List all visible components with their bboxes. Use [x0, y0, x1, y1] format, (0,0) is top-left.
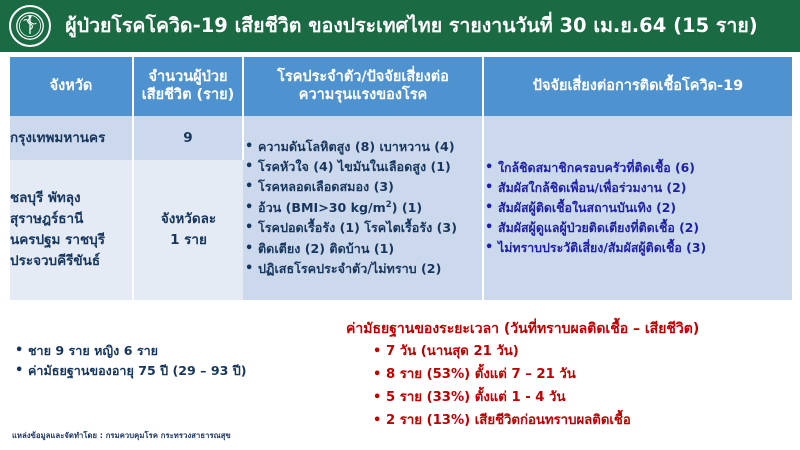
- summary-duration-list: 7 วัน (นานสุด 21 วัน) 8 ราย (53%) ตั้งแต…: [372, 341, 796, 433]
- superscript-two: 2: [386, 200, 392, 210]
- table-row: กรุงเทพมหานคร 9 ความดันโลหิตสูง (8) เบาห…: [10, 116, 792, 160]
- list-item: 8 ราย (53%) ตั้งแต่ 7 – 21 วัน: [372, 364, 796, 387]
- underlying-conditions-list: ความดันโลหิตสูง (8) เบาหวาน (4) โรคหัวใจ…: [244, 137, 482, 280]
- header-bar: ผู้ป่วยโรคโควิด-19 เสียชีวิต ของประเทศไท…: [0, 0, 800, 52]
- summary-duration-title: ค่ามัธยฐานของระยะเวลา (วันที่ทราบผลติดเช…: [346, 320, 796, 338]
- list-item: โรคหัวใจ (4) ไขมันในเลือดสูง (1): [244, 157, 482, 177]
- column-header-risk: ปัจจัยเสี่ยงต่อการติดเชื้อโควิด-19: [483, 57, 792, 116]
- list-item: ค่ามัธยฐานของอายุ 75 ปี (29 – 93 ปี): [14, 361, 344, 381]
- province-line: นครปฐม ราชบุรี: [10, 230, 132, 251]
- column-header-underlying-line2: ความรุนแรงของโรค: [299, 87, 427, 103]
- list-item: 5 ราย (33%) ตั้งแต่ 1 - 4 วัน: [372, 387, 796, 410]
- table-header-row: จังหวัด จำนวนผู้ป่วย เสียชีวิต (ราย) โรค…: [10, 57, 792, 116]
- list-item: ใกล้ชิดสมาชิกครอบครัวที่ติดเชื้อ (6): [484, 158, 792, 178]
- province-line: ชลบุรี พัทลุง: [10, 188, 132, 209]
- deaths-line: จังหวัดละ: [134, 209, 243, 230]
- summary-duration: ค่ามัธยฐานของระยะเวลา (วันที่ทราบผลติดเช…: [346, 320, 796, 433]
- list-item: ชาย 9 ราย หญิง 6 ราย: [14, 341, 344, 361]
- deaths-line: 1 ราย: [134, 230, 243, 251]
- list-item: โรคหลอดเลือดสมอง (3): [244, 177, 482, 197]
- cell-province-others: ชลบุรี พัทลุง สุราษฎร์ธานี นครปฐม ราชบุร…: [10, 160, 133, 300]
- list-item: สัมผัสผู้ดูแลผู้ป่วยติดเตียงที่ติดเชื้อ …: [484, 218, 792, 238]
- summary-demographics-list: ชาย 9 ราย หญิง 6 ราย ค่ามัธยฐานของอายุ 7…: [14, 341, 344, 382]
- list-item: ความดันโลหิตสูง (8) เบาหวาน (4): [244, 137, 482, 157]
- column-header-deaths: จำนวนผู้ป่วย เสียชีวิต (ราย): [133, 57, 243, 116]
- page-title: ผู้ป่วยโรคโควิด-19 เสียชีวิต ของประเทศไท…: [57, 15, 800, 36]
- list-item: สัมผัสผู้ติดเชื้อในสถานบันเทิง (2): [484, 198, 792, 218]
- list-item: ติดเตียง (2) ติดบ้าน (1): [244, 239, 482, 259]
- province-line: ประจวบคีรีขันธ์: [10, 251, 132, 272]
- source-credit: แหล่งข้อมูลและจัดทำโดย : กรมควบคุมโรค กร…: [12, 430, 231, 442]
- cell-deaths-bangkok: 9: [133, 116, 243, 160]
- slide-root: ผู้ป่วยโรคโควิด-19 เสียชีวิต ของประเทศไท…: [0, 0, 800, 450]
- moph-caduceus-logo-icon: [9, 5, 51, 47]
- cell-deaths-others: จังหวัดละ 1 ราย: [133, 160, 243, 300]
- list-item: โรคปอดเรื้อรัง (1) โรคไตเรื้อรัง (3): [244, 218, 482, 238]
- infection-risk-list: ใกล้ชิดสมาชิกครอบครัวที่ติดเชื้อ (6) สัม…: [484, 158, 792, 258]
- column-header-underlying-line1: โรคประจำตัว/ปัจจัยเสี่ยงต่อ: [277, 69, 449, 85]
- list-item: ไม่ทราบประวัติเสี่ยง/สัมผัสผู้ติดเชื้อ (…: [484, 238, 792, 258]
- column-header-deaths-line2: เสียชีวิต (ราย): [142, 87, 234, 103]
- column-header-province: จังหวัด: [10, 57, 133, 116]
- cell-infection-risk-factors: ใกล้ชิดสมาชิกครอบครัวที่ติดเชื้อ (6) สัม…: [483, 116, 792, 300]
- deaths-table: จังหวัด จำนวนผู้ป่วย เสียชีวิต (ราย) โรค…: [10, 57, 792, 300]
- column-header-deaths-line1: จำนวนผู้ป่วย: [149, 69, 228, 85]
- list-item: 2 ราย (13%) เสียชีวิตก่อนทราบผลติดเชื้อ: [372, 410, 796, 433]
- cell-province-bangkok: กรุงเทพมหานคร: [10, 116, 133, 160]
- province-line: สุราษฎร์ธานี: [10, 209, 132, 230]
- cell-underlying-conditions: ความดันโลหิตสูง (8) เบาหวาน (4) โรคหัวใจ…: [243, 116, 483, 300]
- list-item: สัมผัสใกล้ชิดเพื่อน/เพื่อร่วมงาน (2): [484, 178, 792, 198]
- list-item: ปฏิเสธโรคประจำตัว/ไม่ทราบ (2): [244, 259, 482, 279]
- list-item: 7 วัน (นานสุด 21 วัน): [372, 341, 796, 364]
- summary-demographics: ชาย 9 ราย หญิง 6 ราย ค่ามัธยฐานของอายุ 7…: [14, 341, 344, 382]
- column-header-underlying: โรคประจำตัว/ปัจจัยเสี่ยงต่อ ความรุนแรงขอ…: [243, 57, 483, 116]
- list-item: อ้วน (BMI>30 kg/m2) (1): [244, 198, 482, 218]
